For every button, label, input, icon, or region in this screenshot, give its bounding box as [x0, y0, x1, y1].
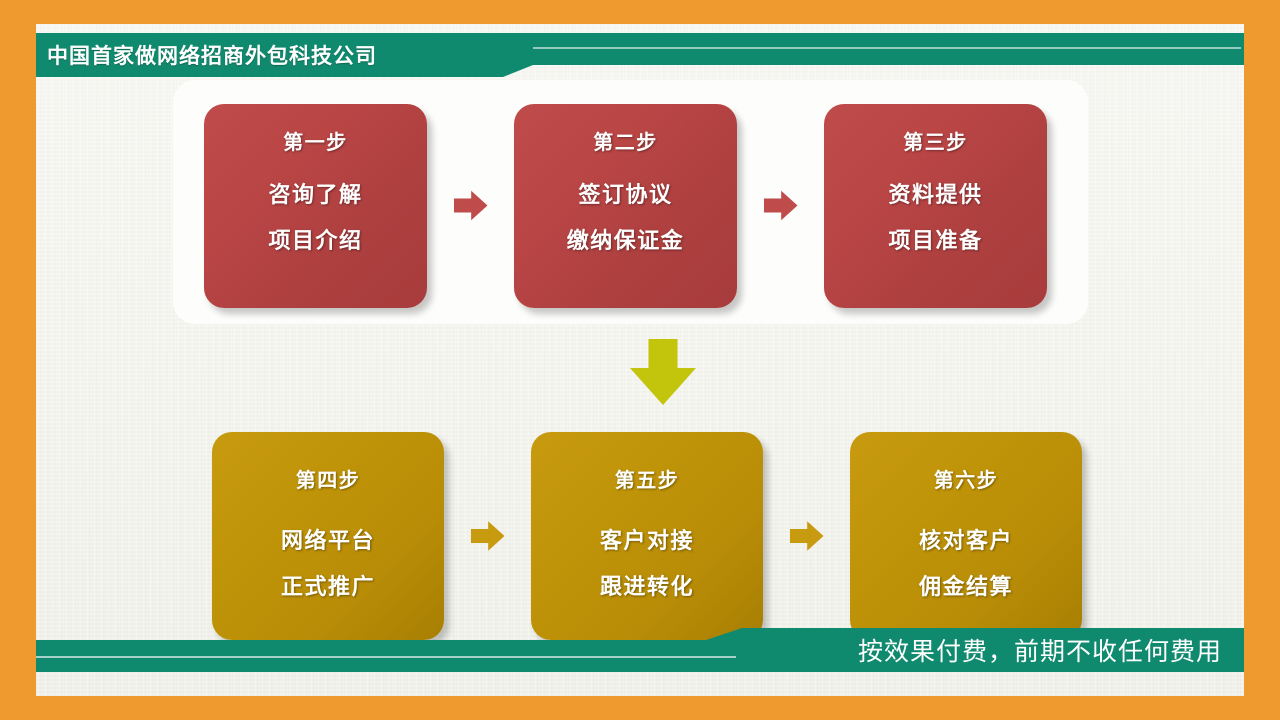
- flow-card-line: 佣金结算: [919, 569, 1013, 601]
- arrow-right-icon: [737, 190, 824, 222]
- flow-card-body: 签订协议 缴纳保证金: [567, 177, 685, 255]
- flow-card-step-label: 第四步: [296, 464, 361, 493]
- flow-card-line: 核对客户: [919, 523, 1013, 555]
- flow-card-body: 客户对接 跟进转化: [600, 523, 694, 601]
- page-title: 中国首家做网络招商外包科技公司: [36, 33, 1244, 77]
- arrow-right-glyph: [471, 520, 505, 552]
- flow-card-step-label: 第二步: [593, 126, 658, 155]
- flow-card-line: 客户对接: [600, 523, 694, 555]
- footer-hairline-divider: [36, 656, 736, 658]
- arrow-right-glyph: [454, 190, 488, 222]
- arrow-right-icon: [427, 190, 514, 222]
- flow-card-body: 核对客户 佣金结算: [919, 523, 1013, 601]
- flow-card-line: 跟进转化: [600, 569, 694, 601]
- flow-card-step-6[interactable]: 第六步 核对客户 佣金结算: [850, 432, 1082, 640]
- arrow-down-icon: [630, 339, 696, 405]
- flow-card-step-label: 第五步: [615, 464, 680, 493]
- flow-card-line: 资料提供: [888, 177, 982, 209]
- slide-canvas: 中国首家做网络招商外包科技公司 第一步 咨询了解 项目介绍 第二步 签订协议 缴…: [36, 24, 1244, 696]
- flow-card-step-label: 第一步: [283, 126, 348, 155]
- arrow-right-icon: [444, 520, 531, 552]
- flow-card-line: 项目准备: [888, 223, 982, 255]
- flow-row-bottom: 第四步 网络平台 正式推广 第五步 客户对接 跟进转化 第六: [212, 420, 1132, 652]
- flow-card-line: 签订协议: [578, 177, 672, 209]
- flow-card-step-5[interactable]: 第五步 客户对接 跟进转化: [531, 432, 763, 640]
- flow-card-line: 缴纳保证金: [567, 223, 685, 255]
- flow-card-step-label: 第三步: [903, 126, 968, 155]
- footer-banner: 按效果付费，前期不收任何费用: [36, 628, 1244, 672]
- slide-root: 中国首家做网络招商外包科技公司 第一步 咨询了解 项目介绍 第二步 签订协议 缴…: [0, 0, 1280, 720]
- flow-card-body: 咨询了解 项目介绍: [268, 177, 362, 255]
- flow-card-line: 正式推广: [281, 569, 375, 601]
- flow-row-top: 第一步 咨询了解 项目介绍 第二步 签订协议 缴纳保证金 第: [204, 98, 1124, 313]
- arrow-right-glyph: [790, 520, 824, 552]
- flow-card-step-3[interactable]: 第三步 资料提供 项目准备: [824, 104, 1047, 308]
- flow-card-step-4[interactable]: 第四步 网络平台 正式推广: [212, 432, 444, 640]
- arrow-right-glyph: [764, 190, 798, 222]
- flow-card-body: 资料提供 项目准备: [888, 177, 982, 255]
- flow-card-body: 网络平台 正式推广: [281, 523, 375, 601]
- arrow-right-icon: [763, 520, 850, 552]
- flow-card-line: 网络平台: [281, 523, 375, 555]
- flow-card-step-label: 第六步: [934, 464, 999, 493]
- footer-tagline: 按效果付费，前期不收任何费用: [858, 628, 1222, 672]
- flow-card-step-1[interactable]: 第一步 咨询了解 项目介绍: [204, 104, 427, 308]
- flow-card-line: 项目介绍: [268, 223, 362, 255]
- flow-card-step-2[interactable]: 第二步 签订协议 缴纳保证金: [514, 104, 737, 308]
- flow-card-line: 咨询了解: [268, 177, 362, 209]
